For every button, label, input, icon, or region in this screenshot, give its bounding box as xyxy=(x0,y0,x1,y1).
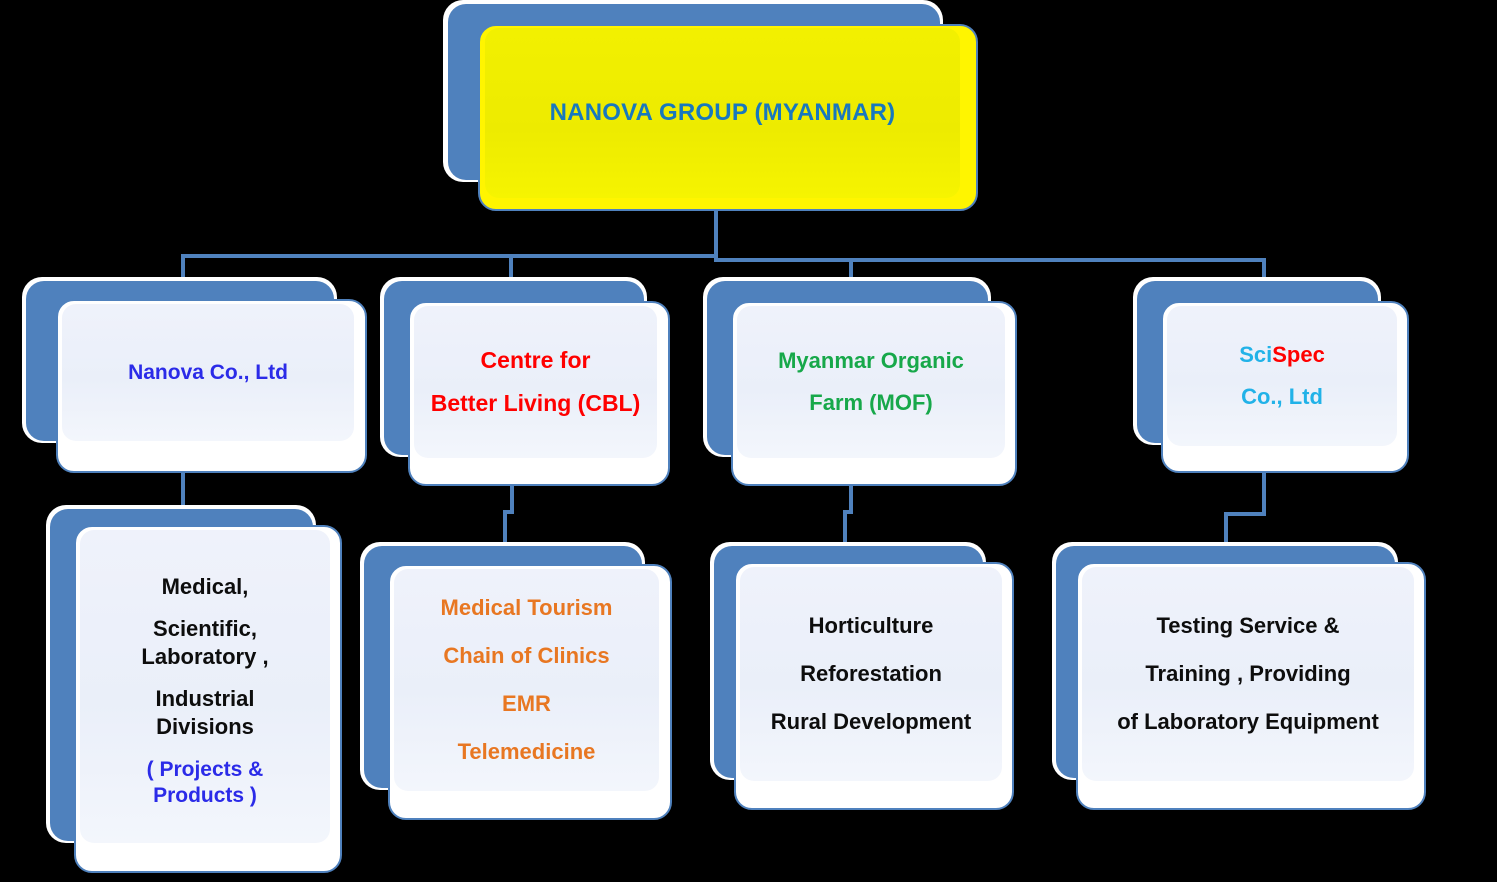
activity-line: Medical Tourism xyxy=(441,595,613,621)
node-label-cbl-line1: Centre for xyxy=(481,347,591,374)
activity-line: Reforestation xyxy=(800,661,942,687)
connector-scispec-to-activities-jog xyxy=(1224,512,1266,516)
activity-line: Rural Development xyxy=(771,709,972,735)
scispec-activities-panel: Testing Service & Training , Providing o… xyxy=(1082,567,1414,781)
node-label-mof-line1: Myanmar Organic xyxy=(778,348,964,374)
node-label-cbl-line2: Better Living (CBL) xyxy=(431,390,641,417)
activity-line: Laboratory , xyxy=(141,644,268,670)
cbl-activities-panel: Medical Tourism Chain of Clinics EMR Tel… xyxy=(394,569,659,791)
root-panel: NANOVA GROUP (MYANMAR) xyxy=(485,28,960,198)
node-nanova-co[interactable]: Nanova Co., Ltd xyxy=(22,277,367,477)
node-label-mof-line2: Farm (MOF) xyxy=(809,390,932,416)
node-cbl-activities[interactable]: Medical Tourism Chain of Clinics EMR Tel… xyxy=(360,542,678,824)
activity-line: ( Projects & xyxy=(147,758,264,782)
node-mof-activities[interactable]: Horticulture Reforestation Rural Develop… xyxy=(710,542,1018,814)
activity-line: Horticulture xyxy=(809,613,934,639)
connector-bus-left xyxy=(181,254,718,258)
scispec-panel: SciSpec Co., Ltd xyxy=(1167,306,1397,446)
node-scispec[interactable]: SciSpec Co., Ltd xyxy=(1133,277,1415,477)
activity-line: Scientific, xyxy=(153,616,257,642)
mof-panel: Myanmar Organic Farm (MOF) xyxy=(737,306,1005,458)
node-nanova-activities[interactable]: Medical, Scientific, Laboratory , Indust… xyxy=(46,505,346,877)
node-scispec-activities[interactable]: Testing Service & Training , Providing o… xyxy=(1052,542,1430,814)
node-label-scispec-line1: SciSpec xyxy=(1239,342,1325,368)
org-chart-canvas: NANOVA GROUP (MYANMAR) Nanova Co., Ltd C… xyxy=(0,0,1497,882)
node-label-scispec-line2: Co., Ltd xyxy=(1241,384,1323,410)
scispec-brand-prefix: Sci xyxy=(1239,342,1272,367)
activity-line: Industrial xyxy=(155,686,254,712)
node-label-nanova-group: NANOVA GROUP (MYANMAR) xyxy=(550,99,896,127)
connector-bus-right xyxy=(714,258,1266,262)
activity-line: of Laboratory Equipment xyxy=(1117,709,1379,735)
activity-line: Testing Service & xyxy=(1157,613,1340,639)
nanova-co-panel: Nanova Co., Ltd xyxy=(62,304,354,441)
activity-line: Telemedicine xyxy=(458,739,596,765)
activity-line: Products ) xyxy=(153,784,257,808)
node-mof[interactable]: Myanmar Organic Farm (MOF) xyxy=(703,277,1025,489)
node-cbl[interactable]: Centre for Better Living (CBL) xyxy=(380,277,682,489)
activity-line: EMR xyxy=(502,691,551,717)
nanova-activities-panel: Medical, Scientific, Laboratory , Indust… xyxy=(80,530,330,843)
cbl-panel: Centre for Better Living (CBL) xyxy=(414,306,657,458)
activity-line: Training , Providing xyxy=(1145,661,1350,687)
node-label-nanova-co: Nanova Co., Ltd xyxy=(128,361,288,385)
node-nanova-group[interactable]: NANOVA GROUP (MYANMAR) xyxy=(443,0,983,215)
activity-line: Divisions xyxy=(156,714,254,740)
mof-activities-panel: Horticulture Reforestation Rural Develop… xyxy=(740,567,1002,781)
scispec-brand-suffix: Spec xyxy=(1272,342,1325,367)
activity-line: Medical, xyxy=(162,574,249,600)
activity-line: Chain of Clinics xyxy=(443,643,609,669)
